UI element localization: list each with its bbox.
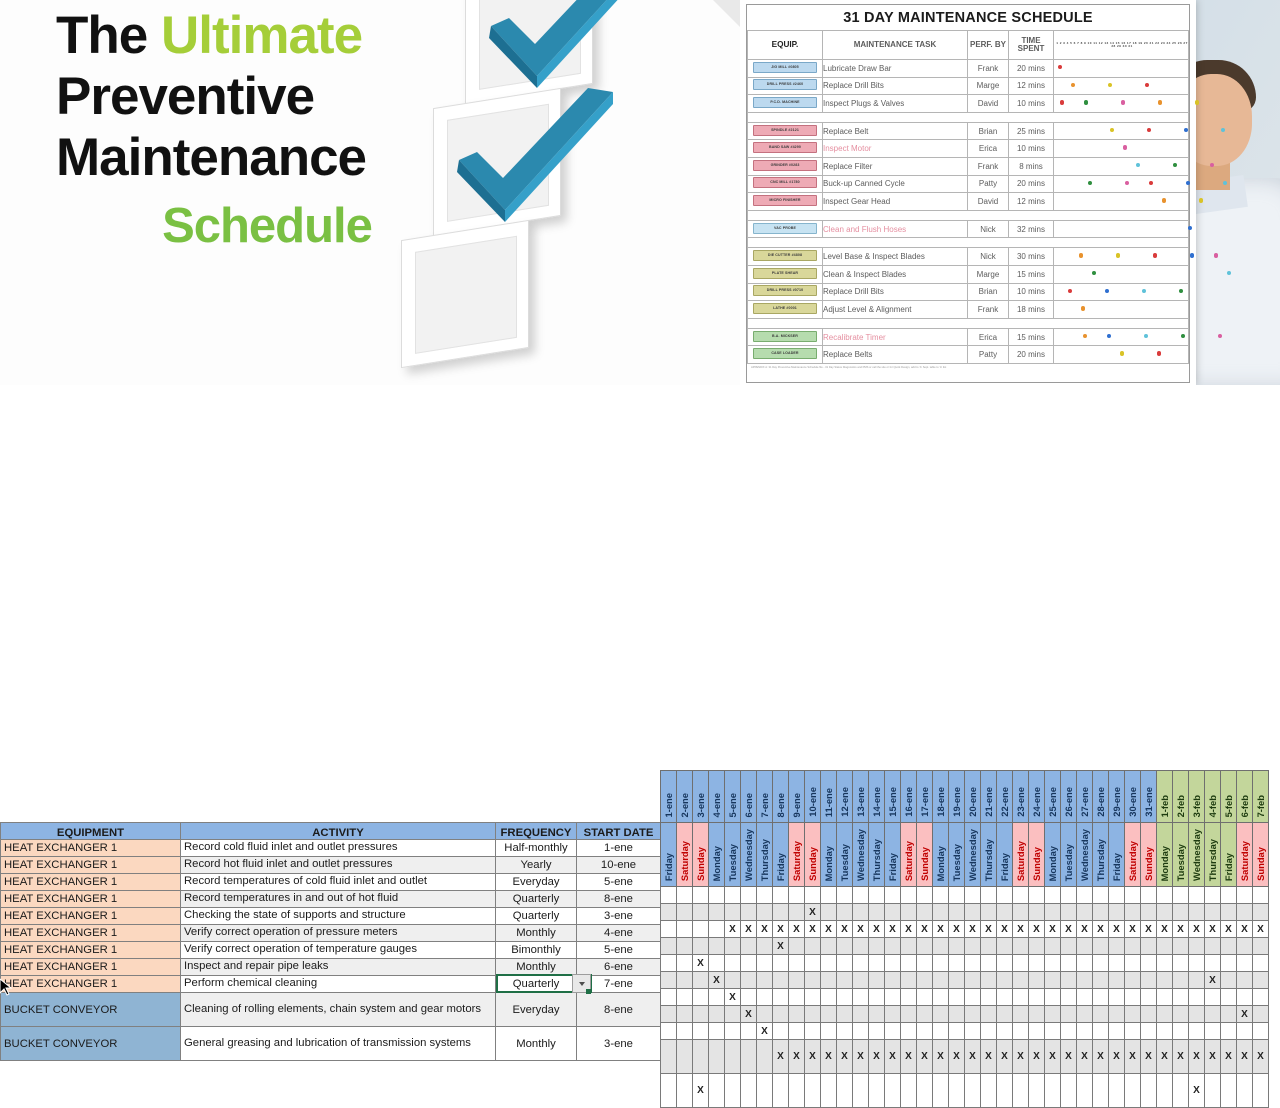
calendar-row[interactable]: XX <box>661 1006 1269 1023</box>
calendar-cell[interactable] <box>853 1006 869 1023</box>
cell-equipment[interactable]: HEAT EXCHANGER 1 <box>1 874 181 891</box>
calendar-cell[interactable] <box>693 904 709 921</box>
calendar-cell[interactable] <box>725 938 741 955</box>
cell-frequency[interactable]: Quarterly <box>496 891 577 908</box>
calendar-cell[interactable] <box>805 1006 821 1023</box>
calendar-cell[interactable] <box>773 1074 789 1108</box>
calendar-cell[interactable] <box>741 1074 757 1108</box>
calendar-cell[interactable] <box>1013 887 1029 904</box>
calendar-cell[interactable] <box>997 955 1013 972</box>
calendar-cell[interactable] <box>789 989 805 1006</box>
calendar-date-header[interactable]: 7-ene <box>757 771 773 823</box>
calendar-cell[interactable] <box>1141 1074 1157 1108</box>
calendar-cell[interactable] <box>1093 955 1109 972</box>
calendar-cell[interactable] <box>1125 1006 1141 1023</box>
calendar-cell[interactable]: X <box>901 921 917 938</box>
calendar-cell[interactable] <box>885 1023 901 1040</box>
cell-equipment[interactable]: HEAT EXCHANGER 1 <box>1 891 181 908</box>
calendar-cell[interactable] <box>1221 938 1237 955</box>
cell-activity[interactable]: Record hot fluid inlet and outlet pressu… <box>181 857 496 874</box>
calendar-date-header[interactable]: 31-ene <box>1141 771 1157 823</box>
calendar-cell[interactable] <box>1061 904 1077 921</box>
calendar-cell[interactable] <box>1029 1023 1045 1040</box>
calendar-cell[interactable] <box>1077 955 1093 972</box>
calendar-cell[interactable] <box>677 938 693 955</box>
calendar-cell[interactable] <box>933 1006 949 1023</box>
calendar-cell[interactable] <box>1125 989 1141 1006</box>
calendar-cell[interactable] <box>1061 1006 1077 1023</box>
calendar-cell[interactable] <box>741 989 757 1006</box>
calendar-cell[interactable] <box>805 972 821 989</box>
calendar-cell[interactable] <box>741 938 757 955</box>
calendar-cell[interactable] <box>1237 972 1253 989</box>
calendar-cell[interactable] <box>1061 972 1077 989</box>
calendar-cell[interactable] <box>1109 1006 1125 1023</box>
calendar-cell[interactable] <box>805 938 821 955</box>
calendar-cell[interactable]: X <box>1093 1040 1109 1074</box>
cell-equipment[interactable]: HEAT EXCHANGER 1 <box>1 857 181 874</box>
calendar-cell[interactable] <box>805 1074 821 1108</box>
calendar-cell[interactable] <box>1221 1023 1237 1040</box>
calendar-cell[interactable] <box>1045 887 1061 904</box>
calendar-cell[interactable] <box>709 989 725 1006</box>
calendar-cell[interactable] <box>1237 938 1253 955</box>
calendar-cell[interactable] <box>1173 938 1189 955</box>
spreadsheet-area[interactable]: EQUIPMENT ACTIVITY FREQUENCY START DATE … <box>0 385 1280 720</box>
calendar-cell[interactable] <box>789 904 805 921</box>
calendar-cell[interactable] <box>1029 1074 1045 1108</box>
calendar-cell[interactable] <box>869 904 885 921</box>
calendar-cell[interactable] <box>1029 989 1045 1006</box>
calendar-cell[interactable]: X <box>1221 1040 1237 1074</box>
calendar-cell[interactable] <box>1077 938 1093 955</box>
calendar-cell[interactable] <box>757 938 773 955</box>
calendar-weekday-header[interactable]: Tuesday <box>949 823 965 887</box>
cell-activity[interactable]: Perform chemical cleaning <box>181 976 496 993</box>
calendar-cell[interactable] <box>789 955 805 972</box>
calendar-cell[interactable] <box>1125 904 1141 921</box>
calendar-cell[interactable] <box>853 955 869 972</box>
calendar-cell[interactable] <box>1061 955 1077 972</box>
calendar-cell[interactable] <box>661 938 677 955</box>
calendar-weekday-header[interactable]: Tuesday <box>1173 823 1189 887</box>
calendar-cell[interactable] <box>837 938 853 955</box>
cell-activity[interactable]: General greasing and lubrication of tran… <box>181 1027 496 1061</box>
calendar-cell[interactable] <box>965 938 981 955</box>
calendar-cell[interactable]: X <box>821 921 837 938</box>
calendar-cell[interactable] <box>741 904 757 921</box>
calendar-cell[interactable] <box>1093 989 1109 1006</box>
calendar-cell[interactable] <box>757 972 773 989</box>
calendar-cell[interactable] <box>789 1006 805 1023</box>
calendar-cell[interactable] <box>1061 1023 1077 1040</box>
calendar-cell[interactable] <box>853 972 869 989</box>
calendar-cell[interactable] <box>1141 989 1157 1006</box>
calendar-cell[interactable] <box>853 1074 869 1108</box>
calendar-cell[interactable] <box>1029 938 1045 955</box>
calendar-cell[interactable] <box>821 1023 837 1040</box>
calendar-cell[interactable] <box>805 989 821 1006</box>
activity-table-body[interactable]: HEAT EXCHANGER 1Record cold fluid inlet … <box>1 840 661 1061</box>
calendar-weekday-header[interactable]: Friday <box>885 823 901 887</box>
calendar-weekday-header[interactable]: Sunday <box>1029 823 1045 887</box>
calendar-cell[interactable] <box>1077 1023 1093 1040</box>
calendar-cell[interactable] <box>1157 1074 1173 1108</box>
cell-equipment[interactable]: HEAT EXCHANGER 1 <box>1 976 181 993</box>
cell-start-date[interactable]: 3-ene <box>577 908 661 925</box>
calendar-cell[interactable] <box>1173 1074 1189 1108</box>
calendar-cell[interactable] <box>869 989 885 1006</box>
calendar-cell[interactable] <box>741 1040 757 1074</box>
calendar-cell[interactable] <box>693 938 709 955</box>
calendar-cell[interactable] <box>1109 955 1125 972</box>
calendar-row[interactable] <box>661 887 1269 904</box>
calendar-date-header[interactable]: 15-ene <box>885 771 901 823</box>
calendar-cell[interactable] <box>869 955 885 972</box>
calendar-cell[interactable] <box>1013 904 1029 921</box>
cell-start-date[interactable]: 6-ene <box>577 959 661 976</box>
calendar-cell[interactable] <box>773 989 789 1006</box>
calendar-cell[interactable] <box>965 1023 981 1040</box>
calendar-cell[interactable]: X <box>1157 1040 1173 1074</box>
calendar-cell[interactable] <box>1125 887 1141 904</box>
calendar-cell[interactable] <box>757 955 773 972</box>
table-row[interactable]: HEAT EXCHANGER 1Verify correct operation… <box>1 942 661 959</box>
calendar-cell[interactable] <box>933 1023 949 1040</box>
calendar-weekday-header[interactable]: Friday <box>773 823 789 887</box>
cell-activity[interactable]: Cleaning of rolling elements, chain syst… <box>181 993 496 1027</box>
cell-start-date[interactable]: 8-ene <box>577 891 661 908</box>
calendar-cell[interactable] <box>709 1006 725 1023</box>
calendar-cell[interactable] <box>1237 1074 1253 1108</box>
calendar-cell[interactable] <box>981 1074 997 1108</box>
calendar-cell[interactable] <box>821 972 837 989</box>
calendar-row[interactable]: X <box>661 955 1269 972</box>
calendar-cell[interactable] <box>1045 904 1061 921</box>
calendar-cell[interactable] <box>661 904 677 921</box>
calendar-cell[interactable] <box>1045 989 1061 1006</box>
calendar-cell[interactable] <box>1221 972 1237 989</box>
calendar-cell[interactable] <box>1189 972 1205 989</box>
calendar-cell[interactable] <box>1157 904 1173 921</box>
calendar-cell[interactable]: X <box>1253 921 1269 938</box>
calendar-date-header[interactable]: 21-ene <box>981 771 997 823</box>
calendar-date-header[interactable]: 10-ene <box>805 771 821 823</box>
cell-start-date[interactable]: 3-ene <box>577 1027 661 1061</box>
calendar-cell[interactable] <box>1221 989 1237 1006</box>
calendar-cell[interactable] <box>709 921 725 938</box>
calendar-cell[interactable] <box>805 1023 821 1040</box>
calendar-date-header[interactable]: 6-ene <box>741 771 757 823</box>
calendar-cell[interactable]: X <box>917 921 933 938</box>
calendar-cell[interactable] <box>1125 938 1141 955</box>
calendar-weekday-header[interactable]: Sunday <box>1253 823 1269 887</box>
table-row[interactable]: BUCKET CONVEYORGeneral greasing and lubr… <box>1 1027 661 1061</box>
calendar-cell[interactable] <box>1189 938 1205 955</box>
cell-frequency[interactable]: Quarterly <box>496 976 577 993</box>
calendar-cell[interactable] <box>1253 1074 1269 1108</box>
calendar-cell[interactable] <box>1237 989 1253 1006</box>
calendar-date-header[interactable]: 2-ene <box>677 771 693 823</box>
calendar-cell[interactable] <box>1253 1023 1269 1040</box>
calendar-cell[interactable]: X <box>1029 921 1045 938</box>
calendar-cell[interactable] <box>1045 938 1061 955</box>
calendar-cell[interactable] <box>1189 989 1205 1006</box>
calendar-cell[interactable] <box>1093 1006 1109 1023</box>
calendar-cell[interactable] <box>1077 1074 1093 1108</box>
calendar-weekday-header[interactable]: Saturday <box>1125 823 1141 887</box>
calendar-cell[interactable]: X <box>1045 921 1061 938</box>
table-row[interactable]: HEAT EXCHANGER 1Record temperatures in a… <box>1 891 661 908</box>
calendar-cell[interactable] <box>741 972 757 989</box>
calendar-cell[interactable] <box>917 904 933 921</box>
calendar-cell[interactable] <box>1045 1023 1061 1040</box>
calendar-date-header[interactable]: 7-feb <box>1253 771 1269 823</box>
calendar-cell[interactable] <box>1189 1006 1205 1023</box>
calendar-cell[interactable] <box>693 1040 709 1074</box>
calendar-cell[interactable] <box>757 1074 773 1108</box>
calendar-cell[interactable] <box>997 1006 1013 1023</box>
calendar-cell[interactable] <box>1093 938 1109 955</box>
calendar-cell[interactable] <box>821 955 837 972</box>
calendar-cell[interactable] <box>1141 1023 1157 1040</box>
calendar-cell[interactable]: X <box>981 1040 997 1074</box>
calendar-cell[interactable]: X <box>1141 1040 1157 1074</box>
calendar-cell[interactable]: X <box>693 955 709 972</box>
calendar-cell[interactable] <box>661 955 677 972</box>
calendar-cell[interactable] <box>1125 1023 1141 1040</box>
calendar-cell[interactable] <box>901 904 917 921</box>
calendar-date-header[interactable]: 23-ene <box>1013 771 1029 823</box>
calendar-cell[interactable] <box>949 955 965 972</box>
table-row[interactable]: HEAT EXCHANGER 1Checking the state of su… <box>1 908 661 925</box>
calendar-date-header[interactable]: 17-ene <box>917 771 933 823</box>
calendar-cell[interactable] <box>709 904 725 921</box>
calendar-weekday-header[interactable]: Friday <box>1221 823 1237 887</box>
calendar-cell[interactable] <box>661 1040 677 1074</box>
calendar-cell[interactable] <box>661 1023 677 1040</box>
calendar-cell[interactable] <box>917 1074 933 1108</box>
calendar-cell[interactable] <box>981 887 997 904</box>
calendar-cell[interactable]: X <box>1189 921 1205 938</box>
calendar-cell[interactable]: X <box>997 921 1013 938</box>
calendar-cell[interactable] <box>757 989 773 1006</box>
calendar-weekday-header[interactable]: Sunday <box>917 823 933 887</box>
calendar-cell[interactable] <box>933 938 949 955</box>
calendar-cell[interactable]: X <box>965 1040 981 1074</box>
calendar-cell[interactable] <box>837 989 853 1006</box>
calendar-cell[interactable] <box>1141 938 1157 955</box>
calendar-cell[interactable] <box>917 955 933 972</box>
calendar-cell[interactable]: X <box>1109 1040 1125 1074</box>
calendar-cell[interactable] <box>901 887 917 904</box>
calendar-cell[interactable] <box>1045 955 1061 972</box>
calendar-date-header[interactable]: 24-ene <box>1029 771 1045 823</box>
calendar-weekday-header[interactable]: Saturday <box>677 823 693 887</box>
calendar-cell[interactable] <box>1045 1074 1061 1108</box>
calendar-cell[interactable]: X <box>1173 921 1189 938</box>
calendar-cell[interactable] <box>1125 1074 1141 1108</box>
calendar-cell[interactable]: X <box>1061 921 1077 938</box>
calendar-cell[interactable]: X <box>773 921 789 938</box>
calendar-cell[interactable] <box>805 955 821 972</box>
calendar-cell[interactable]: X <box>965 921 981 938</box>
calendar-cell[interactable]: X <box>805 1040 821 1074</box>
calendar-cell[interactable]: X <box>805 904 821 921</box>
cell-frequency[interactable]: Quarterly <box>496 908 577 925</box>
calendar-cell[interactable]: X <box>1141 921 1157 938</box>
calendar-grid[interactable]: 1-ene2-ene3-ene4-ene5-ene6-ene7-ene8-ene… <box>660 770 1269 1108</box>
calendar-cell[interactable] <box>741 955 757 972</box>
calendar-date-header[interactable]: 30-ene <box>1125 771 1141 823</box>
calendar-cell[interactable] <box>885 972 901 989</box>
calendar-cell[interactable] <box>1173 904 1189 921</box>
calendar-cell[interactable]: X <box>1237 1040 1253 1074</box>
calendar-cell[interactable] <box>1173 955 1189 972</box>
calendar-cell[interactable] <box>1093 904 1109 921</box>
calendar-cell[interactable] <box>965 904 981 921</box>
calendar-cell[interactable] <box>1205 1006 1221 1023</box>
calendar-cell[interactable] <box>1029 955 1045 972</box>
calendar-cell[interactable] <box>917 972 933 989</box>
calendar-cell[interactable] <box>725 887 741 904</box>
cell-start-date[interactable]: 4-ene <box>577 925 661 942</box>
calendar-cell[interactable] <box>773 904 789 921</box>
calendar-cell[interactable] <box>1013 1074 1029 1108</box>
cell-start-date[interactable]: 10-ene <box>577 857 661 874</box>
calendar-cell[interactable] <box>837 955 853 972</box>
calendar-cell[interactable] <box>821 1006 837 1023</box>
calendar-weekday-header[interactable]: Wednesday <box>741 823 757 887</box>
calendar-cell[interactable]: X <box>773 1040 789 1074</box>
calendar-cell[interactable] <box>773 1023 789 1040</box>
calendar-cell[interactable] <box>1189 955 1205 972</box>
calendar-cell[interactable]: X <box>789 1040 805 1074</box>
col-header-frequency[interactable]: FREQUENCY <box>496 823 577 840</box>
calendar-cell[interactable]: X <box>869 921 885 938</box>
calendar-weekday-header[interactable]: Monday <box>1157 823 1173 887</box>
calendar-cell[interactable] <box>853 938 869 955</box>
calendar-date-header[interactable]: 3-feb <box>1189 771 1205 823</box>
calendar-row[interactable]: X <box>661 1023 1269 1040</box>
calendar-cell[interactable]: X <box>1253 1040 1269 1074</box>
calendar-cell[interactable] <box>725 1074 741 1108</box>
calendar-cell[interactable] <box>1189 887 1205 904</box>
calendar-cell[interactable] <box>1157 887 1173 904</box>
calendar-cell[interactable] <box>725 904 741 921</box>
calendar-cell[interactable] <box>965 887 981 904</box>
calendar-cell[interactable] <box>837 1006 853 1023</box>
calendar-cell[interactable] <box>1173 989 1189 1006</box>
calendar-cell[interactable] <box>693 921 709 938</box>
calendar-mark-body[interactable]: XXXXXXXXXXXXXXXXXXXXXXXXXXXXXXXXXXXXXXXX… <box>661 887 1269 1108</box>
calendar-weekday-header[interactable]: Tuesday <box>837 823 853 887</box>
calendar-cell[interactable] <box>1253 972 1269 989</box>
calendar-cell[interactable]: X <box>981 921 997 938</box>
cell-start-date[interactable]: 5-ene <box>577 874 661 891</box>
calendar-cell[interactable] <box>1205 938 1221 955</box>
calendar-cell[interactable] <box>805 887 821 904</box>
calendar-row[interactable]: X <box>661 938 1269 955</box>
calendar-cell[interactable]: X <box>1189 1074 1205 1108</box>
calendar-weekday-header[interactable]: Sunday <box>693 823 709 887</box>
calendar-weekday-header[interactable]: Monday <box>1045 823 1061 887</box>
cell-activity[interactable]: Inspect and repair pipe leaks <box>181 959 496 976</box>
calendar-cell[interactable] <box>869 938 885 955</box>
calendar-cell[interactable] <box>981 938 997 955</box>
calendar-cell[interactable] <box>1141 955 1157 972</box>
calendar-cell[interactable] <box>1061 1074 1077 1108</box>
calendar-date-header[interactable]: 6-feb <box>1237 771 1253 823</box>
calendar-cell[interactable] <box>773 972 789 989</box>
calendar-cell[interactable] <box>1253 938 1269 955</box>
calendar-date-header[interactable]: 9-ene <box>789 771 805 823</box>
calendar-weekday-header[interactable]: Tuesday <box>725 823 741 887</box>
calendar-date-header[interactable]: 25-ene <box>1045 771 1061 823</box>
calendar-cell[interactable] <box>1157 1006 1173 1023</box>
calendar-cell[interactable] <box>1141 1006 1157 1023</box>
calendar-date-header[interactable]: 22-ene <box>997 771 1013 823</box>
calendar-cell[interactable]: X <box>1125 921 1141 938</box>
calendar-cell[interactable] <box>1237 955 1253 972</box>
calendar-weekday-header[interactable]: Thursday <box>1205 823 1221 887</box>
calendar-date-header[interactable]: 2-feb <box>1173 771 1189 823</box>
calendar-cell[interactable] <box>901 1006 917 1023</box>
calendar-weekday-header[interactable]: Thursday <box>869 823 885 887</box>
calendar-cell[interactable] <box>1221 1074 1237 1108</box>
calendar-cell[interactable] <box>869 1006 885 1023</box>
table-row[interactable]: HEAT EXCHANGER 1Inspect and repair pipe … <box>1 959 661 976</box>
calendar-cell[interactable] <box>997 887 1013 904</box>
cell-frequency[interactable]: Monthly <box>496 1027 577 1061</box>
calendar-cell[interactable] <box>949 972 965 989</box>
calendar-cell[interactable]: X <box>1205 972 1221 989</box>
calendar-cell[interactable] <box>949 1006 965 1023</box>
calendar-cell[interactable] <box>661 1074 677 1108</box>
calendar-weekday-header[interactable]: Friday <box>661 823 677 887</box>
calendar-row[interactable]: XX <box>661 972 1269 989</box>
calendar-cell[interactable]: X <box>1061 1040 1077 1074</box>
col-header-start-date[interactable]: START DATE <box>577 823 661 840</box>
calendar-cell[interactable] <box>821 904 837 921</box>
calendar-date-header[interactable]: 1-feb <box>1157 771 1173 823</box>
calendar-weekday-header[interactable]: Saturday <box>789 823 805 887</box>
calendar-cell[interactable] <box>1077 989 1093 1006</box>
calendar-cell[interactable] <box>677 1023 693 1040</box>
calendar-cell[interactable]: X <box>1173 1040 1189 1074</box>
calendar-cell[interactable] <box>1029 1006 1045 1023</box>
calendar-cell[interactable] <box>1109 938 1125 955</box>
calendar-cell[interactable] <box>997 938 1013 955</box>
calendar-cell[interactable]: X <box>1013 1040 1029 1074</box>
table-row[interactable]: HEAT EXCHANGER 1Record hot fluid inlet a… <box>1 857 661 874</box>
calendar-cell[interactable]: X <box>1029 1040 1045 1074</box>
calendar-cell[interactable] <box>773 1006 789 1023</box>
table-row[interactable]: HEAT EXCHANGER 1Record cold fluid inlet … <box>1 840 661 857</box>
calendar-cell[interactable] <box>725 1040 741 1074</box>
calendar-cell[interactable] <box>1157 972 1173 989</box>
calendar-cell[interactable] <box>981 972 997 989</box>
calendar-cell[interactable] <box>965 989 981 1006</box>
calendar-cell[interactable] <box>677 904 693 921</box>
calendar-cell[interactable] <box>1013 989 1029 1006</box>
calendar-cell[interactable] <box>965 972 981 989</box>
calendar-cell[interactable] <box>1125 972 1141 989</box>
calendar-cell[interactable] <box>789 887 805 904</box>
calendar-weekday-header[interactable]: Sunday <box>1141 823 1157 887</box>
calendar-cell[interactable] <box>917 989 933 1006</box>
cell-equipment[interactable]: BUCKET CONVEYOR <box>1 993 181 1027</box>
